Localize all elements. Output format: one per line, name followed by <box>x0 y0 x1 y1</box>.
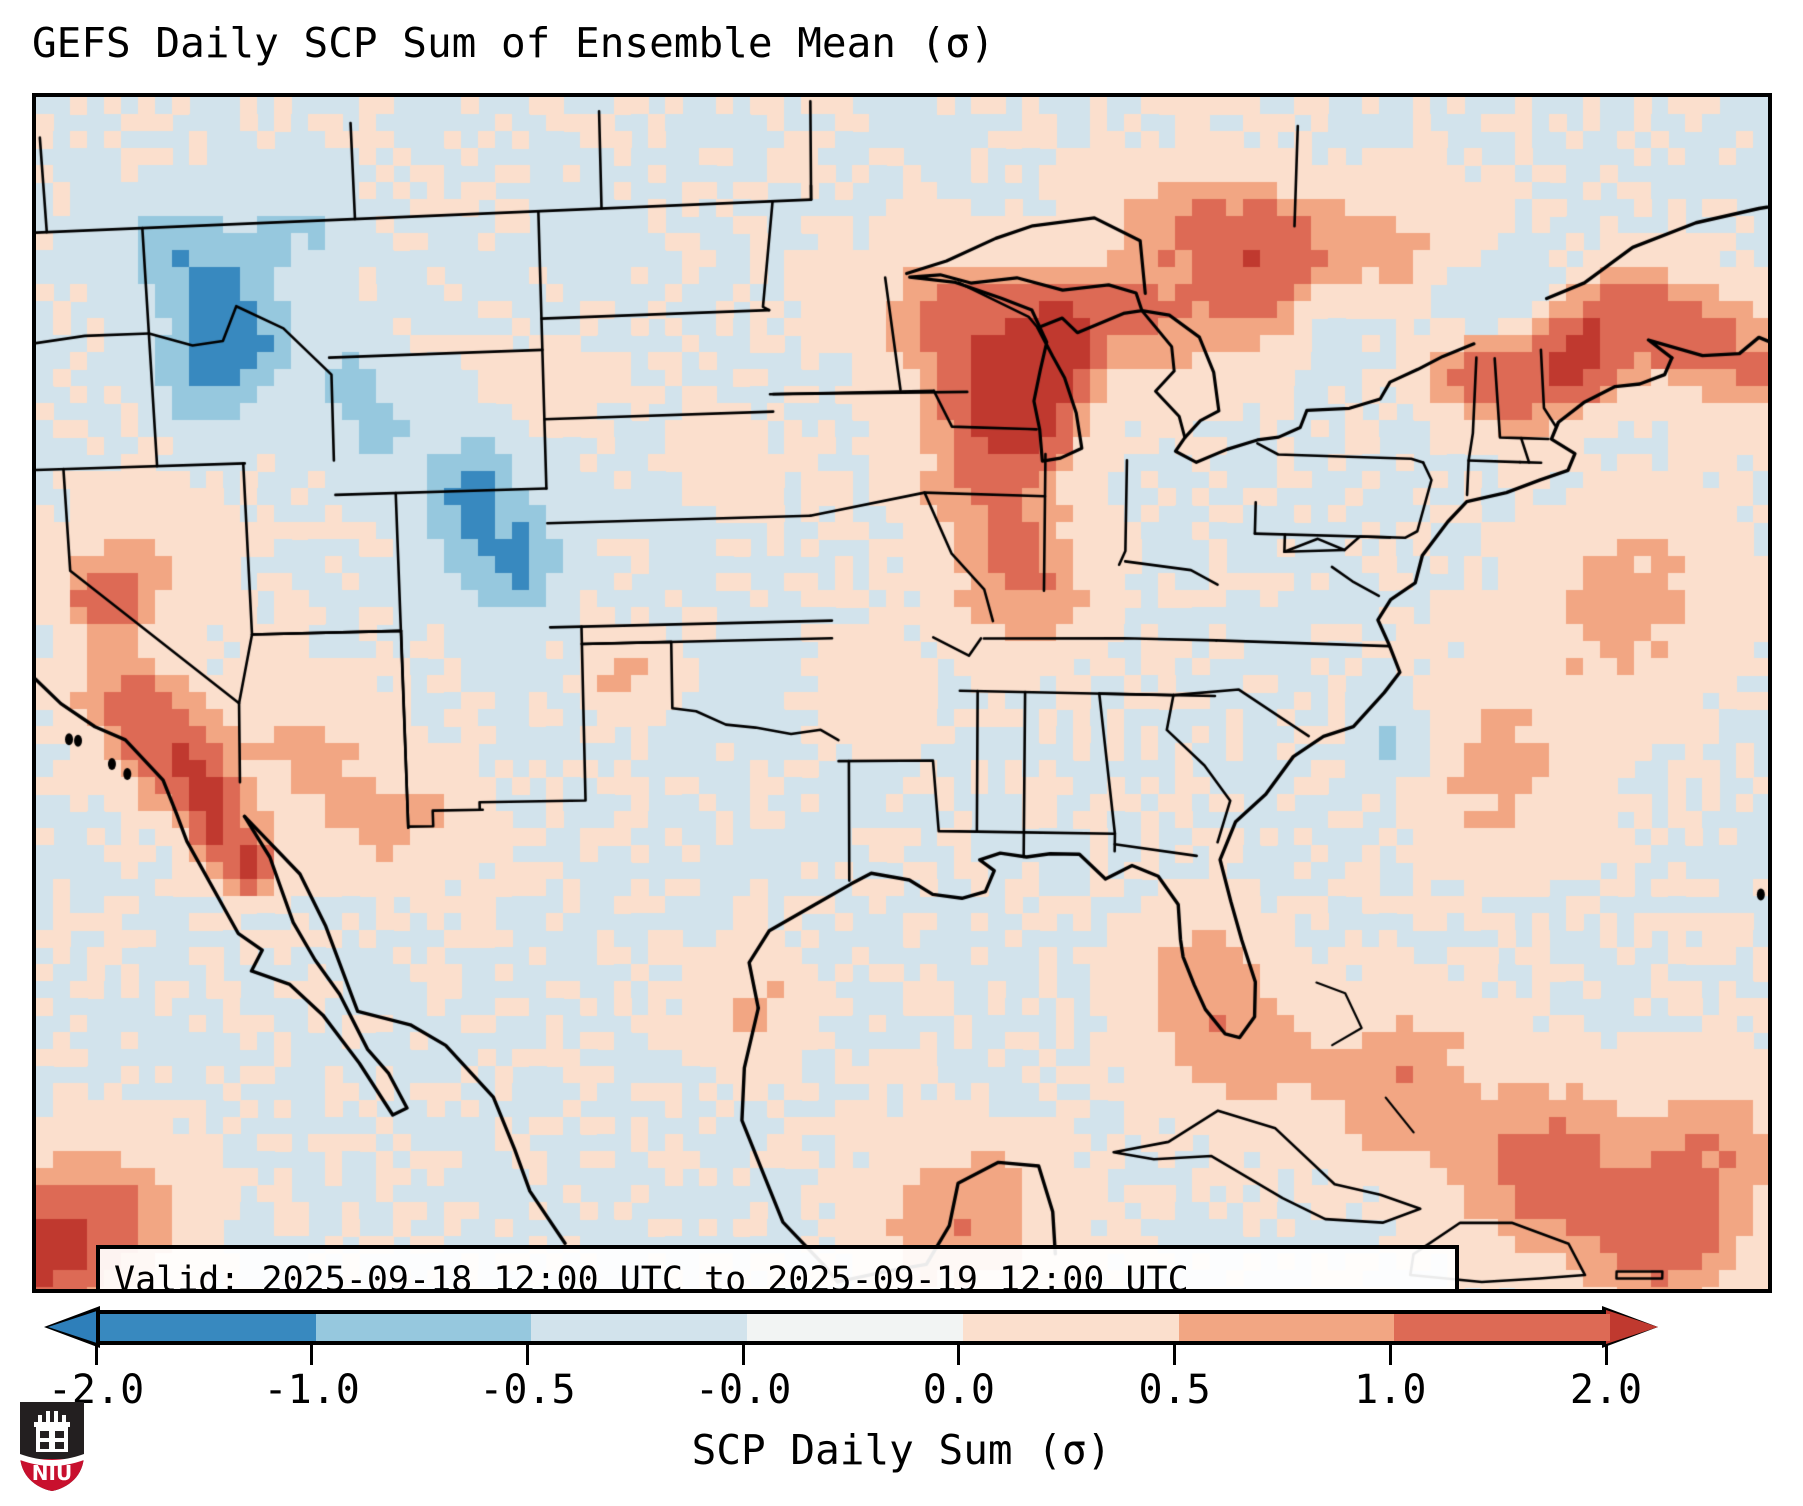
colorbar-tick-3 <box>742 1345 745 1365</box>
niu-logo-text: NIU <box>32 1461 72 1485</box>
colorbar-over-arrow <box>1606 1310 1658 1344</box>
colorbar-axis-label: SCP Daily Sum (σ) <box>0 1426 1803 1474</box>
page-title: GEFS Daily SCP Sum of Ensemble Mean (σ) <box>32 18 995 68</box>
colorbar-tick-0 <box>95 1345 98 1365</box>
colorbar-segment-5 <box>1179 1314 1395 1341</box>
colorbar-tick-1 <box>310 1345 313 1365</box>
scp-heatmap-canvas[interactable] <box>36 97 1768 1289</box>
colorbar-tick-label-5: 0.5 <box>1138 1368 1210 1412</box>
colorbar-tick-6 <box>1389 1345 1392 1365</box>
map-panel[interactable]: Valid: 2025-09-18 12:00 UTC to 2025-09-1… <box>32 93 1772 1293</box>
colorbar-tick-label-4: 0.0 <box>923 1368 995 1412</box>
colorbar-tick-7 <box>1605 1345 1608 1365</box>
colorbar-tick-label-3: -0.0 <box>695 1368 791 1412</box>
colorbar-segment-0 <box>100 1314 316 1341</box>
colorbar[interactable]: SCP Daily Sum (σ) -2.0-1.0-0.5-0.00.00.5… <box>0 1300 1803 1506</box>
valid-time-text: Valid: 2025-09-18 12:00 UTC to 2025-09-1… <box>114 1257 1441 1293</box>
colorbar-tick-label-6: 1.0 <box>1354 1368 1426 1412</box>
colorbar-gradient-band[interactable] <box>96 1310 1606 1345</box>
valid-run-annotation-box: Valid: 2025-09-18 12:00 UTC to 2025-09-1… <box>96 1245 1459 1293</box>
colorbar-tick-2 <box>526 1345 529 1365</box>
colorbar-tick-label-7: 2.0 <box>1570 1368 1642 1412</box>
colorbar-segment-3 <box>747 1314 963 1341</box>
colorbar-tick-label-1: -1.0 <box>264 1368 360 1412</box>
colorbar-ticks <box>0 1345 1803 1365</box>
colorbar-tick-label-2: -0.5 <box>479 1368 575 1412</box>
colorbar-tick-5 <box>1173 1345 1176 1365</box>
colorbar-segment-4 <box>963 1314 1179 1341</box>
weather-map-figure: GEFS Daily SCP Sum of Ensemble Mean (σ) … <box>0 0 1803 1506</box>
colorbar-tick-4 <box>957 1345 960 1365</box>
colorbar-segment-1 <box>316 1314 532 1341</box>
colorbar-under-arrow <box>48 1310 100 1344</box>
colorbar-segment-6 <box>1394 1314 1610 1341</box>
colorbar-segment-2 <box>531 1314 747 1341</box>
niu-shield-logo: NIU <box>16 1398 88 1494</box>
